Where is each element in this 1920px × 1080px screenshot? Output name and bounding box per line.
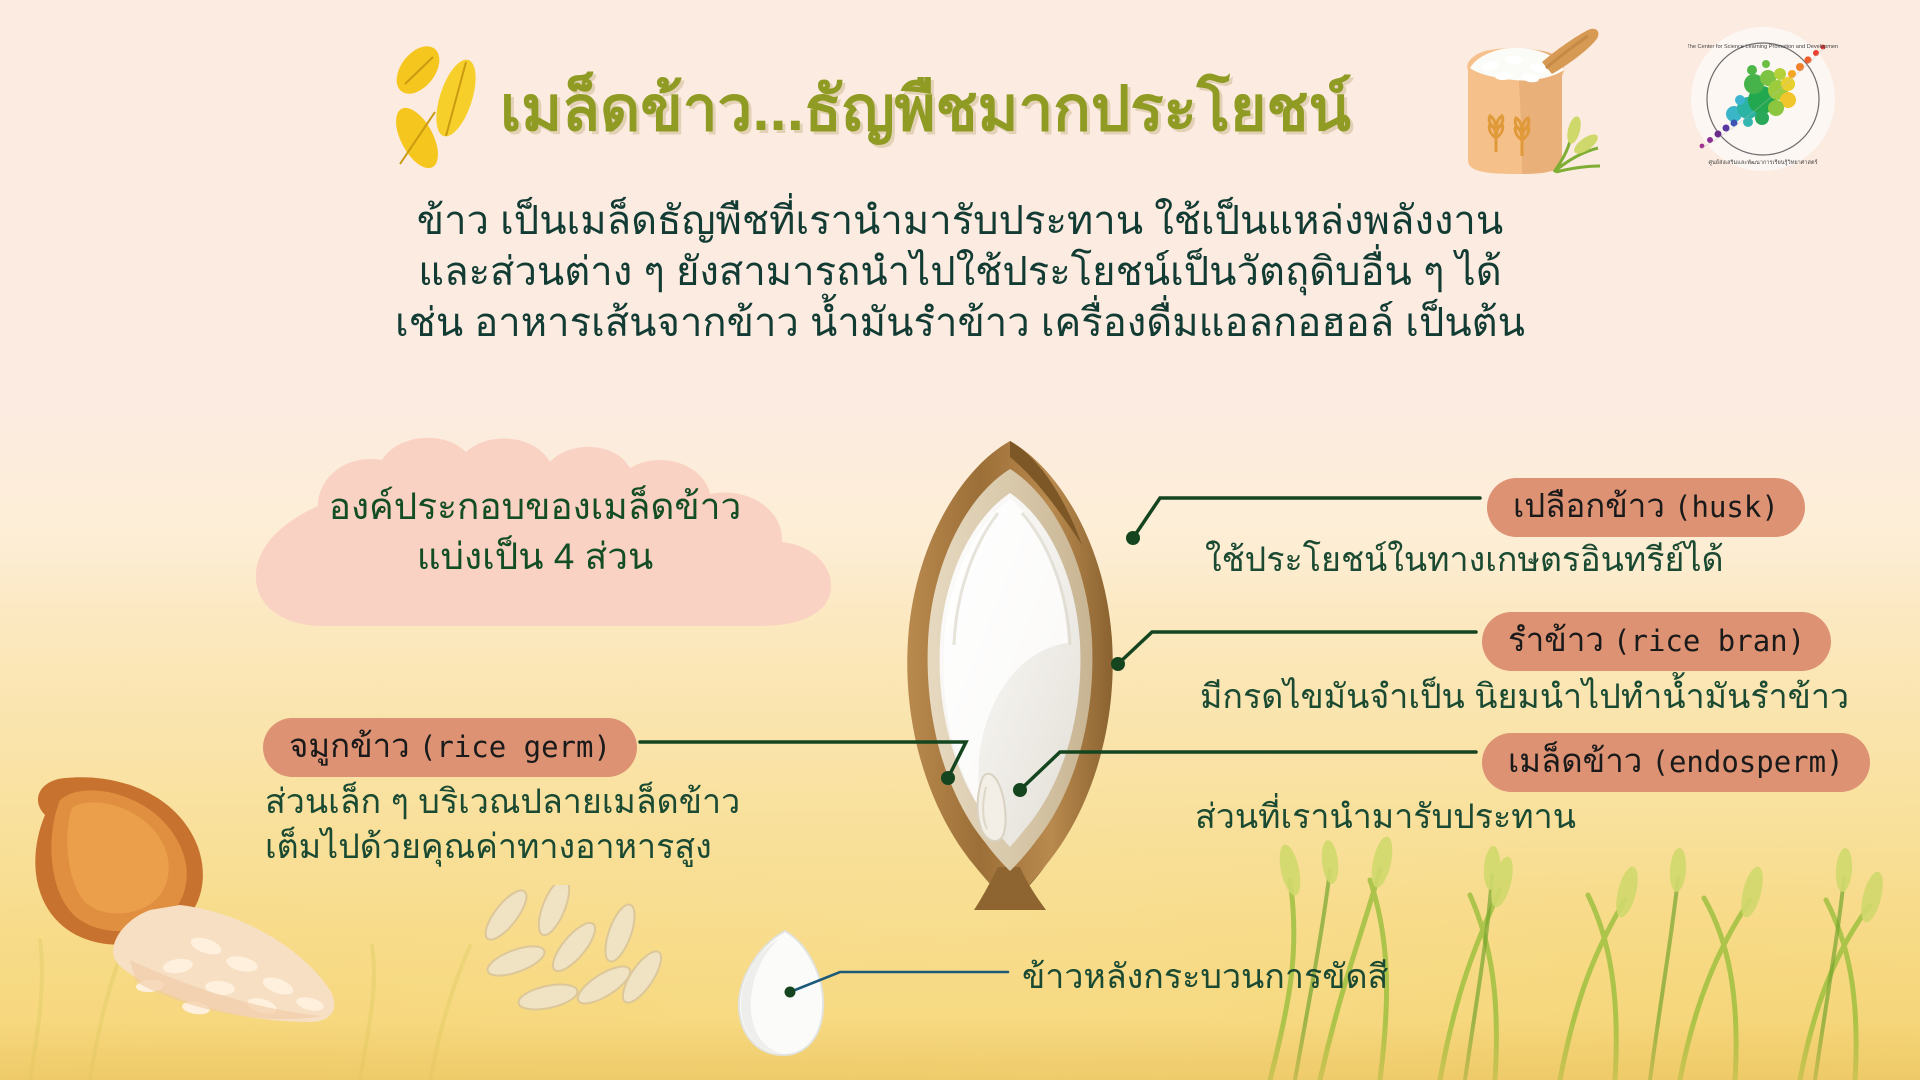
badge-husk-english: (husk): [1674, 490, 1779, 524]
infographic-canvas: เมล็ดข้าว...ธัญพืชมากประโยชน์: [0, 0, 1920, 1080]
cloud-line-1: องค์ประกอบของเมล็ดข้าว: [255, 482, 815, 532]
logo-outer-text: The Center for Science Learning Promotio…: [1688, 44, 1838, 50]
badge-endosperm-thai: เมล็ดข้าว: [1508, 742, 1642, 779]
description-rice-germ-line-1: ส่วนเล็ก ๆ บริเวณปลายเมล็ดข้าว: [265, 780, 825, 825]
badge-germ-english: (rice germ): [419, 730, 611, 764]
description-polished-rice: ข้าวหลังกระบวนการขัดสี: [1022, 955, 1388, 999]
description-husk: ใช้ประโยชน์ในทางเกษตรอินทรีย์ได้: [1205, 538, 1724, 582]
badge-germ-thai: จมูกข้าว: [289, 727, 410, 764]
badge-husk-thai: เปลือกข้าว: [1513, 487, 1665, 524]
badge-bran-english: (rice bran): [1613, 624, 1805, 658]
cloud-line-2: แบ่งเป็น 4 ส่วน: [255, 532, 815, 582]
intro-paragraph: ข้าว เป็นเมล็ดธัญพืชที่เรานำมารับประทาน …: [0, 196, 1920, 349]
logo-inner-text: ศูนย์ส่งเสริมและพัฒนาการเรียนรู้วิทยาศาส…: [1708, 158, 1817, 166]
description-rice-germ: ส่วนเล็ก ๆ บริเวณปลายเมล็ดข้าว เต็มไปด้ว…: [265, 780, 825, 870]
rice-grain-cross-section: [870, 435, 1150, 910]
page-title: เมล็ดข้าว...ธัญพืชมากประโยชน์: [500, 60, 1351, 158]
label-badge-rice-germ[interactable]: จมูกข้าว (rice germ): [263, 718, 637, 777]
label-badge-husk[interactable]: เปลือกข้าว (husk): [1487, 478, 1805, 537]
description-rice-germ-line-2: เต็มไปด้วยคุณค่าทางอาหารสูง: [265, 825, 825, 870]
nsm-science-learning-logo: The Center for Science Learning Promotio…: [1688, 24, 1838, 174]
badge-bran-thai: รำข้าว: [1508, 621, 1604, 658]
badge-endosperm-english: (endosperm): [1651, 745, 1843, 779]
label-badge-endosperm[interactable]: เมล็ดข้าว (endosperm): [1482, 733, 1870, 792]
intro-line-1: ข้าว เป็นเมล็ดธัญพืชที่เรานำมารับประทาน …: [0, 196, 1920, 247]
polished-rice-grain: [725, 925, 845, 1060]
rice-sack-icon: [1430, 20, 1600, 180]
loose-rice-grains-illustration: [470, 885, 670, 1035]
label-badge-rice-bran[interactable]: รำข้าว (rice bran): [1482, 612, 1831, 671]
cloud-caption: องค์ประกอบของเมล็ดข้าว แบ่งเป็น 4 ส่วน: [255, 482, 815, 582]
description-rice-bran: มีกรดไขมันจำเป็น นิยมนำไปทำน้ำมันรำข้าว: [1200, 675, 1849, 719]
intro-line-2: และส่วนต่าง ๆ ยังสามารถนำไปใช้ประโยชน์เป…: [0, 247, 1920, 298]
wheat-grains-icon: [380, 40, 490, 170]
description-endosperm: ส่วนที่เรานำมารับประทาน: [1195, 795, 1576, 839]
intro-line-3: เช่น อาหารเส้นจากข้าว น้ำมันรำข้าว เครื่…: [0, 298, 1920, 349]
